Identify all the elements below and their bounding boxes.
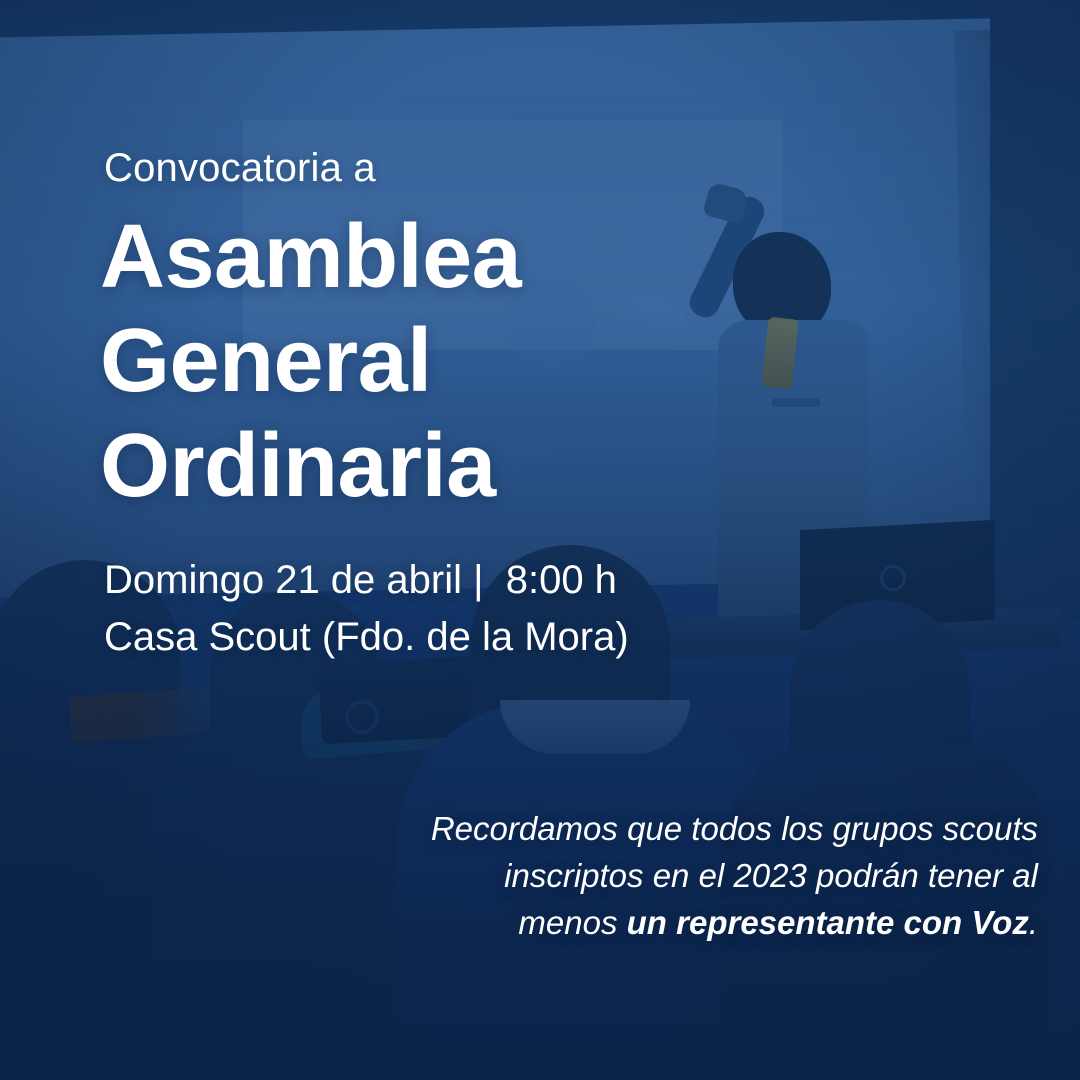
event-location: Casa Scout (Fdo. de la Mora) <box>104 609 629 666</box>
page-title: Asamblea General Ordinaria <box>100 205 740 518</box>
note-text: Recordamos que todos los grupos scouts i… <box>408 806 1038 947</box>
headline-line-2: General <box>100 309 740 413</box>
event-details: Domingo 21 de abril | 8:00 h Casa Scout … <box>104 552 629 666</box>
footer: scouts scouts Paraguay Paraguay <box>0 960 1080 1080</box>
kicker-text: Convocatoria a <box>104 146 376 191</box>
headline-line-1: Asamblea <box>100 205 740 309</box>
poster-canvas: Convocatoria a Asamblea General Ordinari… <box>0 0 1080 1080</box>
headline-line-3: Ordinaria <box>100 414 740 518</box>
note-text-bold: un representante con Voz <box>627 904 1029 941</box>
poster-content: Convocatoria a Asamblea General Ordinari… <box>0 0 1080 1080</box>
event-date-time: Domingo 21 de abril | 8:00 h <box>104 552 629 609</box>
note-text-end: . <box>1029 904 1038 941</box>
